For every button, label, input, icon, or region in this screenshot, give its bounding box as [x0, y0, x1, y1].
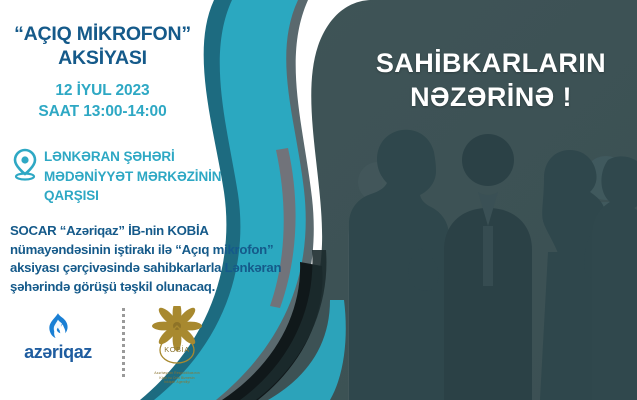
headline-line-1: SAHİBKARLARIN	[352, 46, 630, 80]
logo-row: azəriqaz	[8, 306, 218, 388]
kobia-flower-icon: KOBİA	[140, 306, 214, 366]
map-pin-icon	[12, 148, 38, 182]
azeriqaz-logo: azəriqaz	[14, 310, 102, 363]
poster-canvas: “AÇIQ MİKROFON” AKSİYASI 12 İYUL 2023 SA…	[0, 0, 637, 400]
kobia-mark-label: KOBİA	[164, 345, 190, 354]
event-venue: LƏNKƏRAN ŞƏHƏRİ MƏDƏNİYYƏT MƏRKƏZİNİN QA…	[12, 146, 262, 206]
description-line-3: aksiyası çərçivəsində sahibkarlarla Lənk…	[10, 259, 330, 278]
headline-line-2: NƏZƏRİNƏ !	[352, 80, 630, 114]
poster-title: “AÇIQ MİKROFON” AKSİYASI	[0, 22, 205, 70]
event-date: 12 İYUL 2023	[0, 80, 205, 101]
description-line-2: nümayəndəsinin iştirakı ilə “Açıq mikrof…	[10, 241, 330, 260]
event-time: SAAT 13:00-14:00	[0, 101, 205, 122]
description-line-1: SOCAR “Azəriqaz” İB-nin KOBİA	[10, 222, 330, 241]
left-text-column: “AÇIQ MİKROFON” AKSİYASI 12 İYUL 2023 SA…	[0, 0, 320, 400]
venue-address: LƏNKƏRAN ŞƏHƏRİ MƏDƏNİYYƏT MƏRKƏZİNİN QA…	[44, 146, 221, 206]
venue-line-1: LƏNKƏRAN ŞƏHƏRİ	[44, 147, 221, 167]
venue-line-2: MƏDƏNİYYƏT MƏRKƏZİNİN	[44, 167, 221, 187]
logo-divider	[122, 308, 125, 380]
kobia-caption: Azərbaycan Respublikasının Kiçik və Orta…	[140, 371, 214, 385]
title-line-1: “AÇIQ MİKROFON”	[0, 22, 205, 46]
azeriqaz-wordmark: azəriqaz	[14, 342, 102, 363]
venue-line-3: QARŞISI	[44, 186, 221, 206]
kobia-logo: KOBİA Azərbaycan Respublikasının Kiçik v…	[140, 306, 214, 385]
description-line-4: şəhərində görüşü təşkil olunacaq.	[10, 278, 330, 297]
kobia-caption-line-3: İnkişafı Agentliyi	[140, 380, 214, 385]
gas-flame-icon	[14, 310, 102, 340]
title-line-2: AKSİYASI	[0, 46, 205, 70]
event-datetime: 12 İYUL 2023 SAAT 13:00-14:00	[0, 80, 205, 122]
headline: SAHİBKARLARIN NƏZƏRİNƏ !	[352, 46, 630, 114]
event-description: SOCAR “Azəriqaz” İB-nin KOBİA nümayəndəs…	[10, 222, 330, 296]
